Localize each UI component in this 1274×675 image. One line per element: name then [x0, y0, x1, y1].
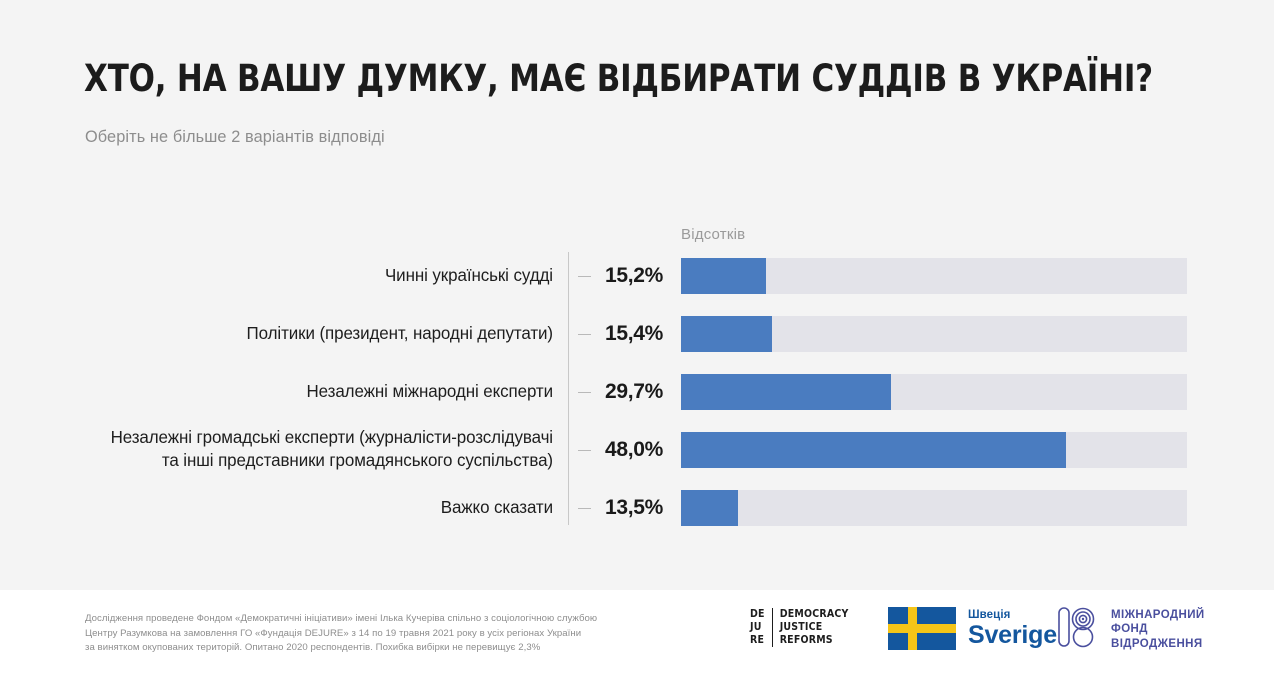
irf-logo-text: МІЖНАРОДНИЙ ФОНД ВІДРОДЖЕННЯ — [1111, 608, 1205, 652]
row-value: 29,7% — [601, 380, 663, 404]
dejure-abbrev-line3: RE — [750, 634, 765, 647]
chart-row: Політики (президент, народні депутати) 1… — [0, 316, 1274, 352]
dejure-abbrev-line2: JU — [750, 621, 765, 634]
row-label: Важко сказати — [49, 496, 553, 519]
row-label: Чинні українські судді — [49, 264, 553, 287]
bar-fill — [681, 374, 891, 410]
sweden-flag-icon — [888, 607, 956, 650]
infographic-poster: ХТО, НА ВАШУ ДУМКУ, МАЄ ВІДБИРАТИ СУДДІВ… — [0, 0, 1274, 675]
flag-cross-horizontal — [888, 624, 956, 633]
methodology-note: Дослідження проведене Фондом «Демократич… — [85, 612, 597, 656]
row-label: Незалежні міжнародні експерти — [49, 380, 553, 403]
sweden-label-swedish: Sverige — [968, 622, 1057, 648]
irf-line1: МІЖНАРОДНИЙ — [1111, 608, 1205, 623]
irf-line3: ВІДРОДЖЕННЯ — [1111, 637, 1205, 652]
page-subtitle: Оберіть не більше 2 варіантів відповіді — [85, 127, 385, 147]
row-label-line1: Чинні українські судді — [385, 265, 553, 285]
axis-tick — [578, 508, 591, 509]
chart-row: Незалежні міжнародні експерти 29,7% — [0, 374, 1274, 410]
bar-track — [681, 258, 1187, 294]
footer: Дослідження проведене Фондом «Демократич… — [0, 590, 1274, 675]
row-label-line2: та інші представники громадянського сусп… — [49, 449, 553, 472]
row-value: 15,4% — [601, 322, 663, 346]
dejure-abbrev-line1: DE — [750, 608, 765, 621]
axis-tick — [578, 450, 591, 451]
bar-fill — [681, 258, 766, 294]
methodology-note-line3: за винятком окупованих територій. Опитан… — [85, 641, 597, 656]
chart-row: Незалежні громадські експерти (журналіст… — [0, 432, 1274, 468]
row-value: 15,2% — [601, 264, 663, 288]
methodology-note-line1: Дослідження проведене Фондом «Демократич… — [85, 612, 597, 627]
bar-track — [681, 490, 1187, 526]
dejure-logo-divider — [772, 608, 773, 647]
irf-logo: МІЖНАРОДНИЙ ФОНД ВІДРОДЖЕННЯ — [1058, 606, 1205, 653]
row-label-line1: Незалежні міжнародні експерти — [306, 381, 553, 401]
dejure-word-line1: DEMOCRACY — [780, 608, 849, 621]
bar-fill — [681, 432, 1066, 468]
chart-row: Чинні українські судді 15,2% — [0, 258, 1274, 294]
axis-tick — [578, 276, 591, 277]
dejure-logo-abbrev: DE JU RE — [750, 608, 765, 647]
irf-line2: ФОНД — [1111, 622, 1205, 637]
row-label: Незалежні громадські експерти (журналіст… — [49, 426, 553, 472]
axis-tick — [578, 334, 591, 335]
dejure-logo-words: DEMOCRACY JUSTICE REFORMS — [780, 608, 849, 647]
row-label-line1: Важко сказати — [441, 497, 553, 517]
dejure-word-line3: REFORMS — [780, 634, 849, 647]
row-value: 48,0% — [601, 438, 663, 462]
axis-caption: Відсотків — [681, 226, 745, 243]
bar-track — [681, 316, 1187, 352]
row-value: 13,5% — [601, 496, 663, 520]
sweden-logo-text: Швеція Sverige — [968, 609, 1057, 648]
irf-mark-icon — [1058, 606, 1098, 653]
bar-fill — [681, 490, 738, 526]
sweden-logo: Швеція Sverige — [888, 607, 1057, 650]
row-label: Політики (президент, народні депутати) — [49, 322, 553, 345]
dejure-word-line2: JUSTICE — [780, 621, 849, 634]
methodology-note-line2: Центру Разумкова на замовлення ГО «Фунда… — [85, 627, 597, 642]
row-label-line1: Політики (президент, народні депутати) — [247, 323, 553, 343]
axis-tick — [578, 392, 591, 393]
row-label-line1: Незалежні громадські експерти (журналіст… — [111, 427, 553, 447]
chart-row: Важко сказати 13,5% — [0, 490, 1274, 526]
bar-track — [681, 432, 1187, 468]
bar-track — [681, 374, 1187, 410]
dejure-logo: DE JU RE DEMOCRACY JUSTICE REFORMS — [750, 608, 849, 647]
page-title: ХТО, НА ВАШУ ДУМКУ, МАЄ ВІДБИРАТИ СУДДІВ… — [84, 58, 1126, 100]
bar-fill — [681, 316, 772, 352]
